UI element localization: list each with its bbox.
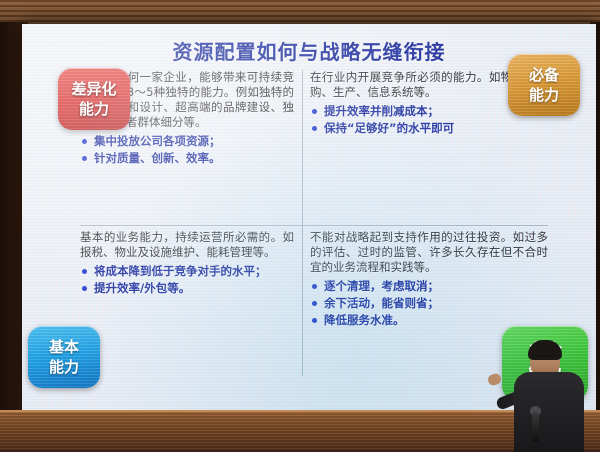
bullet-dot-icon xyxy=(312,284,317,289)
bullet-dot-icon xyxy=(82,269,87,274)
presenter-body xyxy=(514,372,584,452)
bullet-text: 针对质量、创新、效率。 xyxy=(94,151,221,165)
presenter-silhouette xyxy=(506,338,592,450)
bullet-text: 降低服务水准。 xyxy=(324,313,405,327)
presenter-glasses-icon xyxy=(532,355,558,363)
bullet-text: 提升效率/外包等。 xyxy=(94,281,190,295)
bullet-dot-icon xyxy=(82,139,87,144)
bullet-item: 针对质量、创新、效率。 xyxy=(80,151,294,166)
bullet-text: 保持“足够好”的水平即可 xyxy=(324,121,454,135)
badge-essential-line2: 能力 xyxy=(529,85,559,105)
microphone-icon xyxy=(532,412,539,442)
bullet-item: 逐个清理，考虑取消； xyxy=(310,279,548,294)
bullet-dot-icon xyxy=(82,286,87,291)
badge-differentiating-line1: 差异化 xyxy=(71,79,116,99)
quadrant-basic-bullets: 将成本降到低于竞争对手的水平； 提升效率/外包等。 xyxy=(80,264,294,296)
bullet-text: 提升效率并削减成本； xyxy=(324,104,439,118)
badge-basic-capability: 基本 能力 xyxy=(28,326,100,388)
badge-differentiating-line2: 能力 xyxy=(79,99,109,119)
bullet-item: 余下活动，能省则省； xyxy=(310,296,548,311)
grid-vertical-divider xyxy=(302,70,303,376)
quadrant-grid: 有别于任何一家企业，能够带来可持续竞争优势的3～5种独特的能力。例如独特的产品创… xyxy=(80,70,548,376)
quadrant-surplus-paragraph: 不能对战略起到支持作用的过往投资。如过多的评估、过时的监管、许多长久存在但不合时… xyxy=(310,230,548,275)
quadrant-differentiating-bullets: 集中投放公司各项资源； 针对质量、创新、效率。 xyxy=(80,134,294,166)
badge-basic-line2: 能力 xyxy=(49,357,79,377)
bullet-text: 集中投放公司各项资源； xyxy=(94,134,221,148)
conference-room: 资源配置如何与战略无缝衔接 有别于任何一家企业，能够带来可持续竞争优势的3～5种… xyxy=(0,0,600,450)
bullet-dot-icon xyxy=(82,156,87,161)
badge-differentiating-capability: 差异化 能力 xyxy=(58,68,130,130)
bullet-dot-icon xyxy=(312,109,317,114)
bullet-text: 将成本降到低于竞争对手的水平； xyxy=(94,264,267,278)
badge-basic-line1: 基本 xyxy=(49,337,79,357)
bullet-dot-icon xyxy=(312,318,317,323)
bullet-item: 集中投放公司各项资源； xyxy=(80,134,294,149)
grid-horizontal-divider xyxy=(80,225,548,226)
quadrant-surplus-bullets: 逐个清理，考虑取消； 余下活动，能省则省； 降低服务水准。 xyxy=(310,279,548,328)
bullet-dot-icon xyxy=(312,301,317,306)
bullet-text: 余下活动，能省则省； xyxy=(324,296,439,310)
badge-essential-capability: 必备 能力 xyxy=(508,54,580,116)
bullet-item: 提升效率/外包等。 xyxy=(80,281,294,296)
bullet-item: 将成本降到低于竞争对手的水平； xyxy=(80,264,294,279)
bullet-text: 逐个清理，考虑取消； xyxy=(324,279,439,293)
badge-essential-line1: 必备 xyxy=(529,65,559,85)
bullet-item: 保持“足够好”的水平即可 xyxy=(310,121,548,136)
quadrant-basic-paragraph: 基本的业务能力，持续运营所必需的。如报税、物业及设施维护、能耗管理等。 xyxy=(80,230,294,260)
quadrant-basic: 基本的业务能力，持续运营所必需的。如报税、物业及设施维护、能耗管理等。 将成本降… xyxy=(80,230,294,376)
bullet-dot-icon xyxy=(312,126,317,131)
